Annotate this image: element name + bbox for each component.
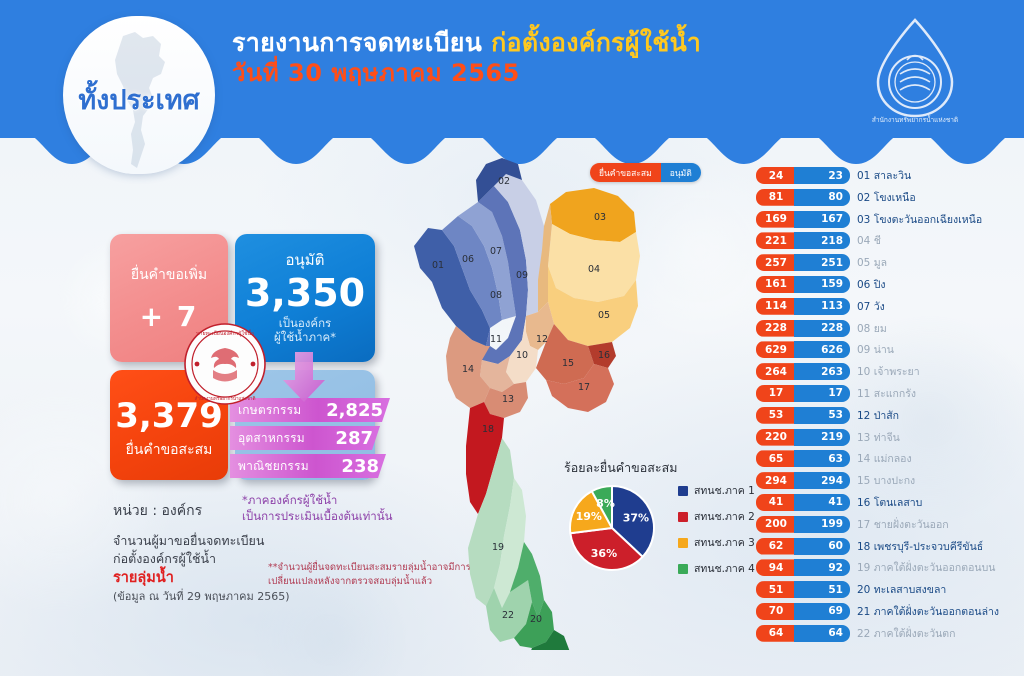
basin-name: 08 ยม — [857, 320, 887, 337]
basin-row: 29429415 บางปะกง — [756, 471, 1020, 490]
basin-approved-badge: 159 — [794, 276, 850, 293]
country-badge: ทั้งประเทศ — [63, 16, 215, 174]
basin-row: 22121804 ชี — [756, 231, 1020, 250]
basin-row: 535312 ป่าสัก — [756, 406, 1020, 425]
legend-item: สทนช.ภาค 2 — [678, 508, 755, 525]
basin-row: 949219 ภาคใต้ฝั่งตะวันออกตอนบน — [756, 558, 1020, 577]
basin-approved-badge: 219 — [794, 429, 850, 446]
basin-approved-badge: 167 — [794, 211, 850, 228]
note-desc-line1: จำนวนผู้มาขอยื่นจดทะเบียน — [113, 532, 290, 550]
basin-approved-badge: 69 — [794, 603, 850, 620]
basin-approved-badge: 17 — [794, 385, 850, 402]
legend-label-4: สทนช.ภาค 4 — [694, 560, 755, 577]
note-unit: หน่วย : องค์กร — [113, 500, 202, 522]
pie-value-label-3: 19% — [576, 510, 602, 523]
basin-approved-badge: 63 — [794, 450, 850, 467]
map-label-01: 01 — [432, 260, 444, 271]
basin-name: 01 สาละวิน — [857, 167, 911, 184]
infographic-page: รายงานการจดทะเบียน ก่อตั้งองค์กรผู้ใช้น้… — [0, 0, 1024, 676]
card-approved-sub-line1: เป็นองค์กร — [279, 316, 331, 330]
basin-name: 03 โขงตะวันออกเฉียงเหนือ — [857, 211, 982, 228]
map-label-02: 02 — [498, 176, 510, 187]
note-description: จำนวนผู้มาขอยื่นจดทะเบียน ก่อตั้งองค์กรผ… — [113, 532, 290, 605]
basin-row: 626018 เพชรบุรี-ประจวบคีรีขันธ์ — [756, 537, 1020, 556]
map-label-08: 08 — [490, 290, 502, 301]
title-plain: รายงานการจดทะเบียน — [232, 28, 491, 57]
basin-row: 11411307 วัง — [756, 297, 1020, 316]
basin-row: 656314 แม่กลอง — [756, 449, 1020, 468]
basin-row: 16115906 ปิง — [756, 275, 1020, 294]
map-label-10: 10 — [516, 350, 528, 361]
map-legend-pending: ยื่นคำขอสะสม — [590, 163, 661, 182]
basin-name: 13 ท่าจีน — [857, 429, 900, 446]
basin-name: 07 วัง — [857, 298, 885, 315]
note-asterisk-line1: *ภาคองค์กรผู้ใช้น้ำ — [242, 492, 393, 508]
card-approved-value: 3,350 — [235, 274, 375, 312]
basin-name: 04 ชี — [857, 232, 881, 249]
page-title: รายงานการจดทะเบียน ก่อตั้งองค์กรผู้ใช้น้… — [232, 30, 852, 56]
basin-approved-badge: 294 — [794, 472, 850, 489]
note-asterisk-line2: เป็นการประเมินเบื้องต้นเท่านั้น — [242, 508, 393, 524]
basin-row: 242301 สาละวิน — [756, 166, 1020, 185]
note-asterisk: *ภาคองค์กรผู้ใช้น้ำ เป็นการประเมินเบื้อง… — [242, 492, 393, 524]
basin-row: 16916703 โขงตะวันออกเฉียงเหนือ — [756, 210, 1020, 229]
legend-label-2: สทนช.ภาค 2 — [694, 508, 755, 525]
basin-name: 22 ภาคใต้ฝั่งตะวันตก — [857, 625, 955, 642]
basin-row: 818002 โขงเหนือ — [756, 188, 1020, 207]
basin-row: 646422 ภาคใต้ฝั่งตะวันตก — [756, 624, 1020, 643]
sector-bar-value: 287 — [335, 428, 373, 449]
map-label-20: 20 — [530, 614, 542, 625]
basin-name: 02 โขงเหนือ — [857, 189, 916, 206]
pie-chart-title: ร้อยละยื่นคำขอสะสม — [564, 458, 677, 478]
basin-table: 242301 สาละวิน818002 โขงเหนือ16916703 โข… — [756, 166, 1020, 646]
title-block: รายงานการจดทะเบียน ก่อตั้งองค์กรผู้ใช้น้… — [232, 30, 852, 86]
basin-approved-badge: 218 — [794, 232, 850, 249]
basin-approved-badge: 80 — [794, 189, 850, 206]
map-label-04: 04 — [588, 264, 600, 275]
basin-approved-badge: 41 — [794, 494, 850, 511]
map-label-11: 11 — [490, 334, 502, 345]
basin-row: 25725105 มูล — [756, 253, 1020, 272]
map-label-17: 17 — [578, 382, 590, 393]
legend-label-1: สทนช.ภาค 1 — [694, 482, 755, 499]
svg-text:นายทะเบียนองค์กรผู้ใช้น้ำ: นายทะเบียนองค์กรผู้ใช้น้ำ — [196, 329, 254, 337]
pie-value-label-4: 8% — [596, 497, 615, 510]
map-label-19: 19 — [492, 542, 504, 553]
map-label-07: 07 — [490, 246, 502, 257]
pie-chart: 37%36%19%8% — [560, 478, 670, 578]
basin-row: 22822808 ยม — [756, 319, 1020, 338]
sector-bar-label: พาณิชยกรรม — [238, 457, 309, 476]
basin-approved-badge: 113 — [794, 298, 850, 315]
sector-bar-list: เกษตรกรรม 2,825 อุตสาหกรรม 287 พาณิชยกรร… — [230, 398, 390, 482]
basin-name: 16 โตนเลสาบ — [857, 494, 922, 511]
basin-name: 18 เพชรบุรี-ประจวบคีรีขันธ์ — [857, 538, 983, 555]
basin-name: 12 ป่าสัก — [857, 407, 899, 424]
legend-swatch-3 — [678, 538, 688, 548]
map-label-12: 12 — [536, 334, 548, 345]
svg-text:สำนักงานทรัพยากรน้ำแห่งชาติ: สำนักงานทรัพยากรน้ำแห่งชาติ — [872, 115, 958, 124]
pie-value-label-2: 36% — [591, 547, 617, 560]
basin-approved-badge: 92 — [794, 559, 850, 576]
legend-item: สทนช.ภาค 1 — [678, 482, 755, 499]
basin-name: 15 บางปะกง — [857, 472, 915, 489]
official-seal-icon: นายทะเบียนองค์กรผู้ใช้น้ำ สำนักงานทรัพยา… — [183, 322, 267, 406]
basin-approved-badge: 51 — [794, 581, 850, 598]
sector-bar-value: 238 — [341, 456, 379, 477]
basin-name: 21 ภาคใต้ฝั่งตะวันออกตอนล่าง — [857, 603, 999, 620]
basin-name: 05 มูล — [857, 254, 887, 271]
svg-text:สำนักงานทรัพยากรน้ำแห่งชาติ: สำนักงานทรัพยากรน้ำแห่งชาติ — [195, 395, 256, 402]
pie-value-label-1: 37% — [623, 512, 649, 525]
legend-label-3: สทนช.ภาค 3 — [694, 534, 755, 551]
basin-name: 20 ทะเลสาบสงขลา — [857, 581, 946, 598]
basin-name: 10 เจ้าพระยา — [857, 363, 920, 380]
basin-name: 06 ปิง — [857, 276, 886, 293]
basin-row: 171711 สะแกกรัง — [756, 384, 1020, 403]
basin-name: 17 ชายฝั่งตะวันออก — [857, 516, 949, 533]
note-desc-highlight: รายลุ่มน้ำ — [113, 568, 290, 589]
arrow-down-icon — [281, 352, 327, 404]
pie-chart-block: ร้อยละยื่นคำขอสะสม 37%36%19%8% สทนช.ภาค … — [560, 458, 760, 578]
basin-approved-badge: 60 — [794, 538, 850, 555]
card-approved-sub-line2: ผู้ใช้น้ำภาค* — [274, 330, 336, 344]
sector-bar-label: อุตสาหกรรม — [238, 429, 305, 448]
basin-row: 22021913 ท่าจีน — [756, 428, 1020, 447]
legend-swatch-1 — [678, 486, 688, 496]
basin-name: 09 น่าน — [857, 341, 894, 358]
basin-name: 14 แม่กลอง — [857, 450, 912, 467]
basin-approved-badge: 626 — [794, 341, 850, 358]
legend-swatch-4 — [678, 564, 688, 574]
basin-approved-badge: 228 — [794, 320, 850, 337]
basin-approved-badge: 53 — [794, 407, 850, 424]
basin-row: 515120 ทะเลสาบสงขลา — [756, 580, 1020, 599]
map-label-16: 16 — [598, 350, 610, 361]
basin-name: 11 สะแกกรัง — [857, 385, 916, 402]
basin-row: 414116 โตนเลสาบ — [756, 493, 1020, 512]
map-label-14: 14 — [462, 364, 474, 375]
note-desc-date: (ข้อมูล ณ วันที่ 29 พฤษภาคม 2565) — [113, 589, 290, 605]
map-label-03: 03 — [594, 212, 606, 223]
basin-approved-badge: 64 — [794, 625, 850, 642]
legend-item: สทนช.ภาค 3 — [678, 534, 755, 551]
sector-bar-value: 2,825 — [326, 400, 383, 421]
map-label-06: 06 — [462, 254, 474, 265]
map-legend-approved: อนุมัติ — [661, 163, 701, 182]
map-label-22: 22 — [502, 610, 514, 621]
report-date: วันที่ 30 พฤษภาคม 2565 — [232, 61, 852, 86]
basin-row: 62962609 น่าน — [756, 340, 1020, 359]
basin-row: 20019917 ชายฝั่งตะวันออก — [756, 515, 1020, 534]
sector-bar: อุตสาหกรรม 287 — [230, 426, 380, 450]
country-badge-label: ทั้งประเทศ — [63, 78, 215, 121]
basin-approved-badge: 263 — [794, 363, 850, 380]
card-approved-caption: อนุมัติ — [235, 248, 375, 272]
map-legend: ยื่นคำขอสะสม อนุมัติ — [590, 163, 701, 182]
basin-row: 26426310 เจ้าพระยา — [756, 362, 1020, 381]
basin-approved-badge: 199 — [794, 516, 850, 533]
map-label-15: 15 — [562, 358, 574, 369]
water-drop-department-logo-icon: สำนักงานทรัพยากรน้ำแห่งชาติ — [856, 14, 974, 126]
basin-name: 19 ภาคใต้ฝั่งตะวันออกตอนบน — [857, 559, 995, 576]
card-total-requests-caption: ยื่นคำขอสะสม — [110, 439, 228, 461]
map-label-13: 13 — [502, 394, 514, 405]
pie-chart-legend: สทนช.ภาค 1 สทนช.ภาค 2 สทนช.ภาค 3 สทนช.ภา… — [678, 482, 755, 586]
card-new-requests-caption: ยื่นคำขอเพิ่ม — [110, 264, 228, 286]
basin-approved-badge: 251 — [794, 254, 850, 271]
map-label-09: 09 — [516, 270, 528, 281]
basin-row: 706921 ภาคใต้ฝั่งตะวันออกตอนล่าง — [756, 602, 1020, 621]
legend-item: สทนช.ภาค 4 — [678, 560, 755, 577]
map-label-18: 18 — [482, 424, 494, 435]
basin-approved-badge: 23 — [794, 167, 850, 184]
title-highlight: ก่อตั้งองค์กรผู้ใช้น้ำ — [491, 28, 701, 57]
note-desc-line2: ก่อตั้งองค์กรผู้ใช้น้ำ — [113, 550, 290, 568]
legend-swatch-2 — [678, 512, 688, 522]
sector-bar: พาณิชยกรรม 238 — [230, 454, 386, 478]
map-label-05: 05 — [598, 310, 610, 321]
